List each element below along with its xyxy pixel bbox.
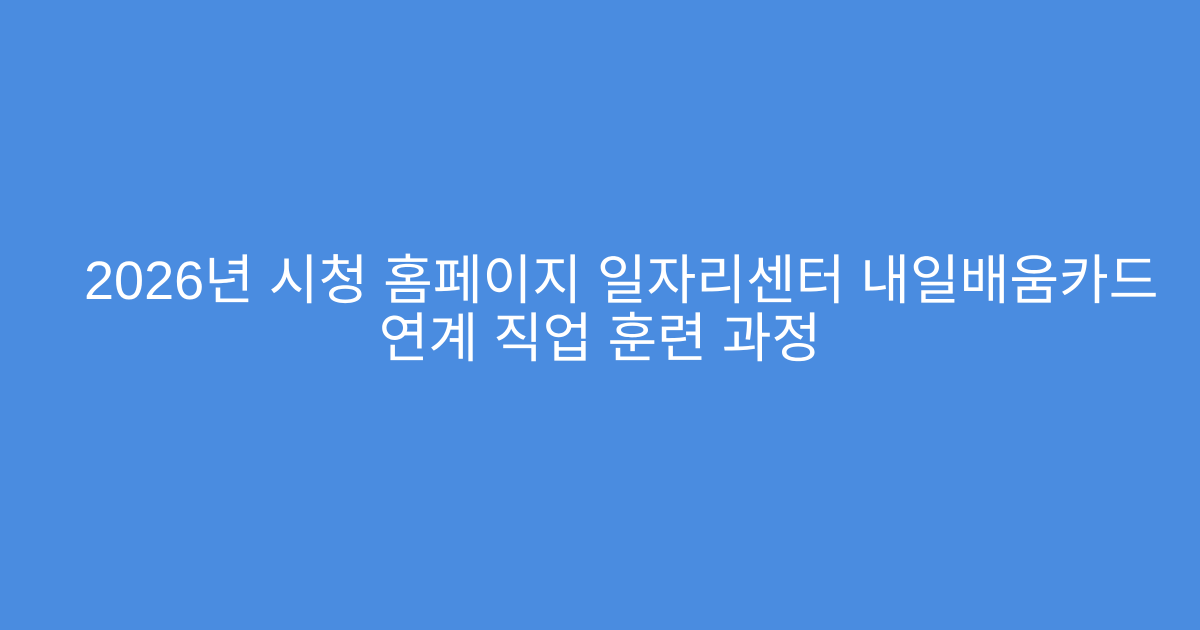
page-title: 2026년 시청 홈페이지 일자리센터 내일배움카드 연계 직업 훈련 과정	[60, 252, 1140, 368]
og-banner-card: 2026년 시청 홈페이지 일자리센터 내일배움카드 연계 직업 훈련 과정	[0, 0, 1200, 630]
page-title-line-1: 2026년 시청 홈페이지 일자리센터 내일배움카드	[84, 252, 1116, 310]
page-title-line-2: 연계 직업 훈련 과정	[84, 310, 1116, 368]
